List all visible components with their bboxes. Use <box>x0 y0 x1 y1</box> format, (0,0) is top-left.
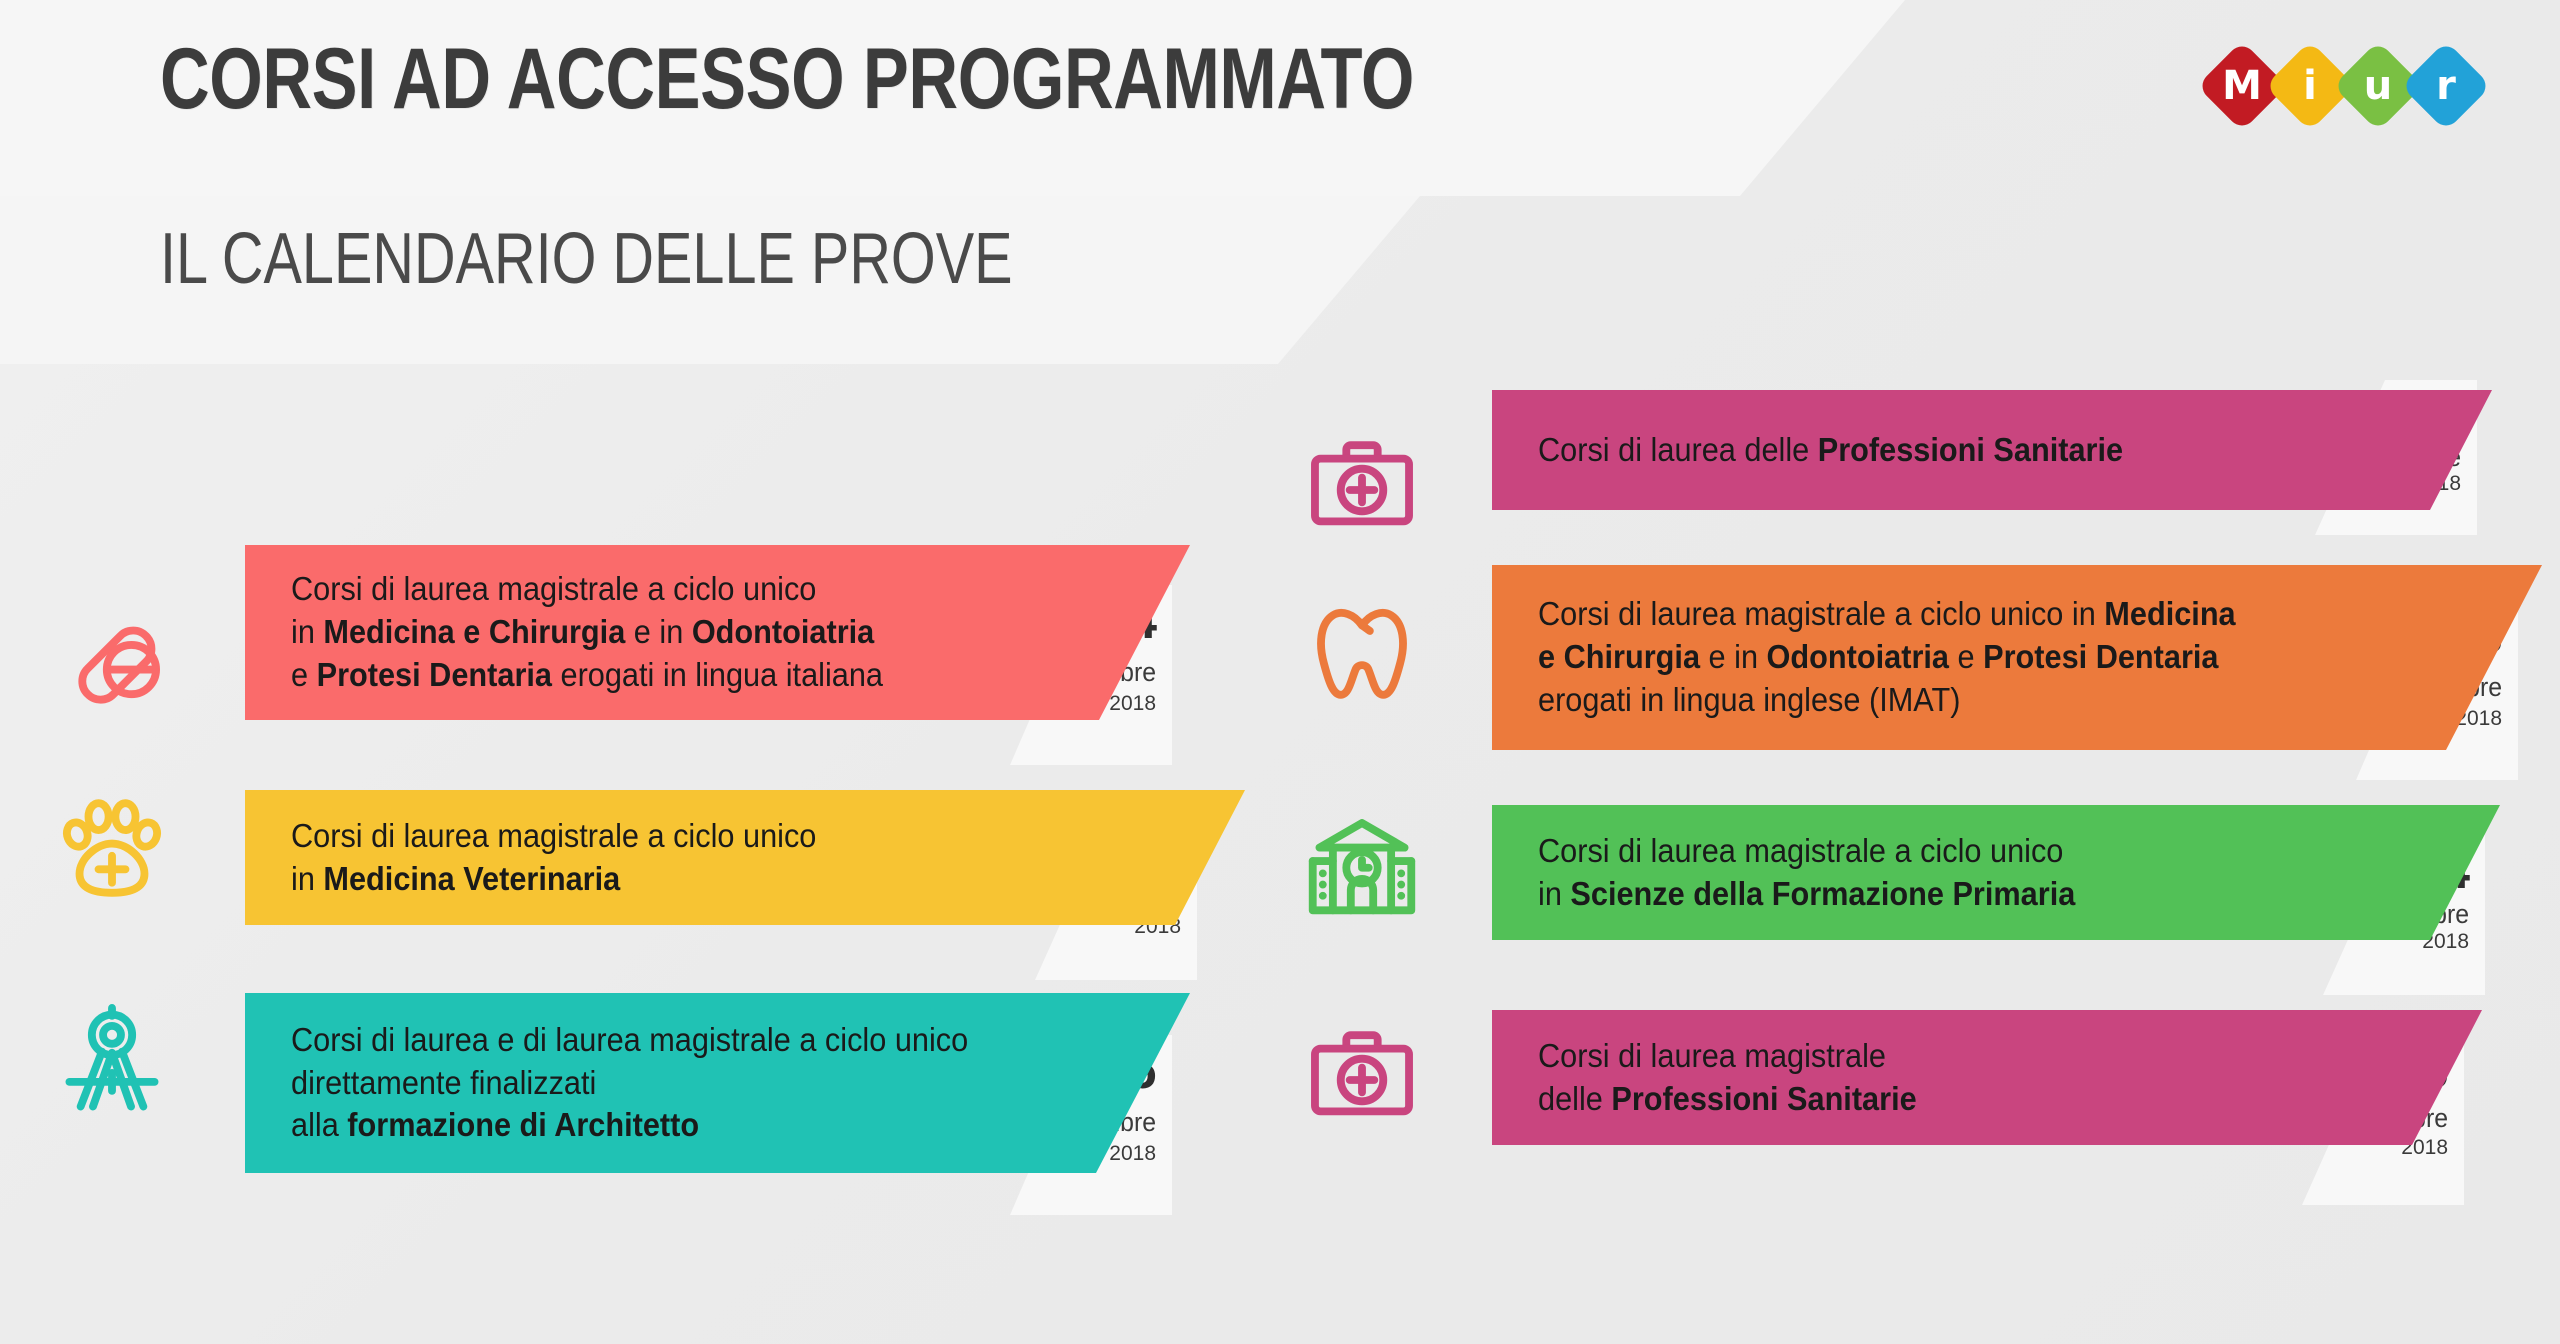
course-description-line: Corsi di laurea magistrale a ciclo unico <box>291 815 1178 858</box>
date-year: 2018 <box>1109 1143 1156 1164</box>
course-description-line: in Scienze della Formazione Primaria <box>1538 873 2433 916</box>
course-text: Corsi di laurea e di laurea magistrale a… <box>291 1021 968 1058</box>
course-bar[interactable]: Corsi di laurea e di laurea magistrale a… <box>245 993 1190 1173</box>
course-name-emphasis: Professioni Sanitarie <box>1611 1080 1916 1117</box>
course-text: erogati in lingua italiana <box>552 656 883 693</box>
course-description-line: e Protesi Dentaria erogati in lingua ita… <box>291 654 1127 697</box>
course-description-line: Corsi di laurea e di laurea magistrale a… <box>291 1019 1127 1062</box>
course-bar[interactable]: Corsi di laurea magistrale a ciclo unico… <box>1492 565 2542 750</box>
miur-logo[interactable]: M i u r <box>2202 42 2475 130</box>
date-year: 2018 <box>1109 693 1156 714</box>
course-description: Corsi di laurea magistrale a ciclo unico… <box>1538 805 2500 940</box>
course-description-line: Corsi di laurea magistrale a ciclo unico <box>291 568 1127 611</box>
course-description-line: in Medicina e Chirurgia e in Odontoiatri… <box>291 611 1127 654</box>
miur-letter-r: r <box>2436 66 2456 106</box>
course-description: Corsi di laurea magistraledelle Professi… <box>1538 1010 2482 1145</box>
course-name-emphasis: Protesi Dentaria <box>317 656 552 693</box>
tooth-icon <box>1302 590 1422 710</box>
course-name-emphasis: Medicina Veterinaria <box>323 860 620 897</box>
course-name-emphasis: e Chirurgia <box>1538 638 1700 675</box>
course-name-emphasis: Medicina <box>2104 595 2235 632</box>
course-bar[interactable]: Corsi di laurea magistrale a ciclo unico… <box>1492 805 2500 940</box>
course-text: erogati in lingua inglese (IMAT) <box>1538 681 1960 718</box>
course-description: Corsi di laurea magistrale a ciclo unico… <box>291 545 1190 720</box>
course-text: in <box>291 613 323 650</box>
first-aid-kit-icon <box>1302 430 1422 550</box>
course-text: Corsi di laurea magistrale a ciclo unico <box>291 817 816 854</box>
course-text: in <box>291 860 323 897</box>
course-description-line: Corsi di laurea delle Professioni Sanita… <box>1538 429 2425 472</box>
course-name-emphasis: Professioni Sanitarie <box>1818 431 2123 468</box>
course-name-emphasis: Medicina e Chirurgia <box>323 613 625 650</box>
course-description: Corsi di laurea magistrale a ciclo unico… <box>291 790 1245 925</box>
course-text: Corsi di laurea magistrale a ciclo unico… <box>1538 595 2104 632</box>
course-text: e <box>291 656 317 693</box>
course-name-emphasis: Odontoiatria <box>1767 638 1949 675</box>
course-description-line: in Medicina Veterinaria <box>291 858 1178 901</box>
course-description-line: Corsi di laurea magistrale a ciclo unico <box>1538 830 2433 873</box>
course-name-emphasis: formazione di Architetto <box>347 1106 699 1143</box>
course-text: alla <box>291 1106 347 1143</box>
course-text: in <box>1538 875 1570 912</box>
course-text: e in <box>625 613 692 650</box>
course-description-line: alla formazione di Architetto <box>291 1104 1127 1147</box>
course-description-line: delle Professioni Sanitarie <box>1538 1078 2416 1121</box>
course-name-emphasis: Odontoiatria <box>692 613 874 650</box>
course-description-line: direttamente finalizzati <box>291 1062 1127 1105</box>
course-text: direttamente finalizzati <box>291 1064 596 1101</box>
course-bar[interactable]: Corsi di laurea magistrale a ciclo unico… <box>245 790 1245 925</box>
course-description: Corsi di laurea delle Professioni Sanita… <box>1538 390 2492 510</box>
course-name-emphasis: Scienze della Formazione Primaria <box>1570 875 2075 912</box>
course-bar[interactable]: Corsi di laurea magistrale a ciclo unico… <box>245 545 1190 720</box>
miur-letter-u: u <box>2364 66 2392 106</box>
course-description-line: erogati in lingua inglese (IMAT) <box>1538 679 2472 722</box>
course-description-line: Corsi di laurea magistrale <box>1538 1035 2416 1078</box>
course-text: Corsi di laurea magistrale a ciclo unico <box>1538 832 2063 869</box>
course-text: delle <box>1538 1080 1611 1117</box>
compass-icon <box>52 995 172 1115</box>
course-description-line: e Chirurgia e in Odontoiatria e Protesi … <box>1538 636 2472 679</box>
course-text: e <box>1949 638 1983 675</box>
pills-icon <box>58 595 178 715</box>
first-aid-kit-icon <box>1302 1020 1422 1140</box>
paw-plus-icon <box>52 788 172 908</box>
miur-letter-i: i <box>2303 66 2317 106</box>
miur-tile-r: r <box>2406 46 2486 126</box>
school-building-icon <box>1302 810 1422 930</box>
course-description: Corsi di laurea e di laurea magistrale a… <box>291 993 1190 1173</box>
course-description: Corsi di laurea magistrale a ciclo unico… <box>1538 565 2542 750</box>
page-title: CORSI AD ACCESSO PROGRAMMATO <box>160 30 1414 129</box>
course-bar[interactable]: Corsi di laurea delle Professioni Sanita… <box>1492 390 2492 510</box>
course-text: Corsi di laurea magistrale a ciclo unico <box>291 570 816 607</box>
header: CORSI AD ACCESSO PROGRAMMATO IL CALENDAR… <box>0 0 2560 380</box>
course-text: Corsi di laurea magistrale <box>1538 1037 1886 1074</box>
course-name-emphasis: Protesi Dentaria <box>1983 638 2218 675</box>
course-description-line: Corsi di laurea magistrale a ciclo unico… <box>1538 593 2472 636</box>
course-text: Corsi di laurea delle <box>1538 431 1818 468</box>
miur-letter-m: M <box>2222 66 2262 106</box>
page-subtitle: IL CALENDARIO DELLE PROVE <box>160 218 1013 300</box>
calendar-grid: 04settembre2018Corsi di laurea magistral… <box>0 380 2560 1344</box>
course-text: e in <box>1700 638 1767 675</box>
course-bar[interactable]: Corsi di laurea magistraledelle Professi… <box>1492 1010 2482 1145</box>
